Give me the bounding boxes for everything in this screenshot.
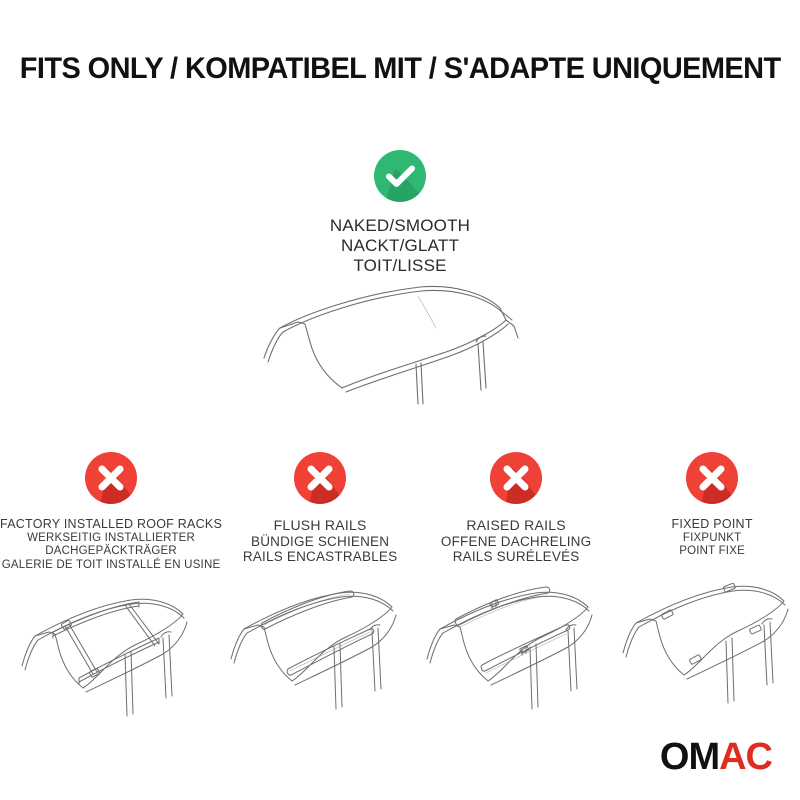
compatible-roof-labels: NAKED/SMOOTH NACKT/GLATT TOIT/LISSE: [0, 216, 800, 276]
roof-type-fixed-point: FIXED POINT FIXPUNKT POINT FIXE: [614, 452, 800, 715]
roof-label-en: RAISED RAILS: [418, 517, 614, 534]
x-circle-icon: [294, 452, 346, 504]
roof-type-factory-racks: FACTORY INSTALLED ROOF RACKS WERKSEITIG …: [0, 452, 222, 728]
roof-type-labels: FIXED POINT FIXPUNKT POINT FIXE: [614, 517, 800, 559]
roof-label-en: FIXED POINT: [614, 517, 800, 532]
roof-label-fr: RAILS ENCASTRABLES: [222, 549, 418, 565]
roof-type-labels: FACTORY INSTALLED ROOF RACKS WERKSEITIG …: [0, 517, 222, 572]
x-circle-icon: [85, 452, 137, 504]
roof-label-de-1: WERKSEITIG INSTALLIERTER: [0, 532, 222, 546]
roof-label-de: OFFENE DACHRELING: [418, 534, 614, 550]
omac-logo-part2: AC: [719, 736, 772, 778]
roof-illustration-flush-rails: [222, 571, 418, 721]
compatible-roof-type-section: NAKED/SMOOTH NACKT/GLATT TOIT/LISSE: [0, 150, 800, 405]
roof-label-en: FLUSH RAILS: [222, 517, 418, 534]
roof-illustration-factory-racks: [0, 578, 222, 728]
roof-illustration-raised-rails: [418, 571, 614, 721]
roof-label-en: FACTORY INSTALLED ROOF RACKS: [0, 517, 222, 532]
roof-type-flush-rails: FLUSH RAILS BÜNDIGE SCHIENEN RAILS ENCAS…: [222, 452, 418, 721]
omac-logo: OMAC: [660, 738, 772, 776]
x-circle-icon: [686, 452, 738, 504]
roof-label-en: NAKED/SMOOTH: [0, 216, 800, 236]
page-title: FITS ONLY / KOMPATIBEL MIT / S'ADAPTE UN…: [0, 52, 800, 86]
roof-label-de: NACKT/GLATT: [0, 236, 800, 256]
roof-label-de: BÜNDIGE SCHIENEN: [222, 534, 418, 550]
roof-type-labels: RAISED RAILS OFFENE DACHRELING RAILS SUR…: [418, 517, 614, 565]
x-circle-icon: [490, 452, 542, 504]
roof-label-fr: POINT FIXE: [614, 545, 800, 559]
roof-label-fr: GALERIE DE TOIT INSTALLÉ EN USINE: [0, 559, 222, 573]
omac-logo-part1: OM: [660, 736, 719, 778]
check-circle-icon: [374, 150, 426, 202]
roof-label-fr: RAILS SURÉLEVÉS: [418, 549, 614, 565]
roof-type-labels: FLUSH RAILS BÜNDIGE SCHIENEN RAILS ENCAS…: [222, 517, 418, 565]
roof-type-raised-rails: RAISED RAILS OFFENE DACHRELING RAILS SUR…: [418, 452, 614, 721]
roof-label-de-2: DACHGEPÄCKTRÄGER: [0, 545, 222, 559]
incompatible-roof-types-row: FACTORY INSTALLED ROOF RACKS WERKSEITIG …: [0, 452, 800, 728]
roof-illustration-fixed-point: [614, 565, 800, 715]
roof-label-fr: TOIT/LISSE: [0, 256, 800, 276]
roof-illustration-naked-smooth: [0, 280, 800, 405]
roof-label-de: FIXPUNKT: [614, 532, 800, 546]
page-title-text: FITS ONLY / KOMPATIBEL MIT / S'ADAPTE UN…: [20, 52, 781, 86]
